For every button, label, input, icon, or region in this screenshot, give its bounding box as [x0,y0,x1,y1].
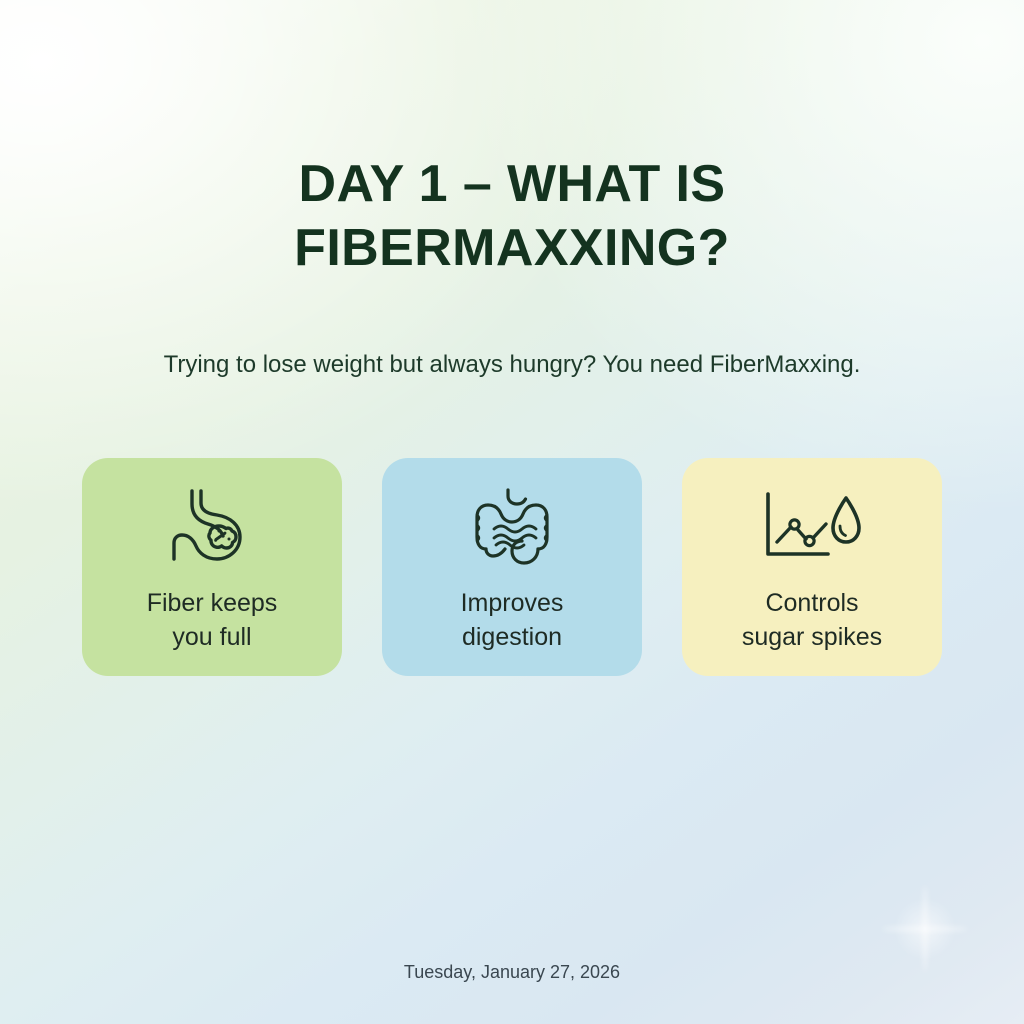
benefit-card-fiber-keeps-you-full[interactable]: Fiber keeps you full [82,458,342,676]
benefit-card-row: Fiber keeps you full [82,458,942,676]
benefit-card-label: Improves digestion [399,586,625,654]
page-subtitle: Trying to lose weight but always hungry?… [0,349,1024,381]
benefit-card-label: Fiber keeps you full [99,586,325,654]
poster-canvas: DAY 1 – WHAT IS FIBERMAXXING? Trying to … [0,0,1024,1024]
glucose-chart-drop-icon [760,486,864,568]
benefit-card-improves-digestion[interactable]: Improves digestion [382,458,642,676]
page-title: DAY 1 – WHAT IS FIBERMAXXING? [0,152,1024,280]
benefit-card-label: Controls sugar spikes [699,586,925,654]
stomach-icon [170,486,254,568]
footer-date: Tuesday, January 27, 2026 [0,960,1024,984]
benefit-card-controls-sugar-spikes[interactable]: Controls sugar spikes [682,458,942,676]
intestines-icon [472,486,552,568]
